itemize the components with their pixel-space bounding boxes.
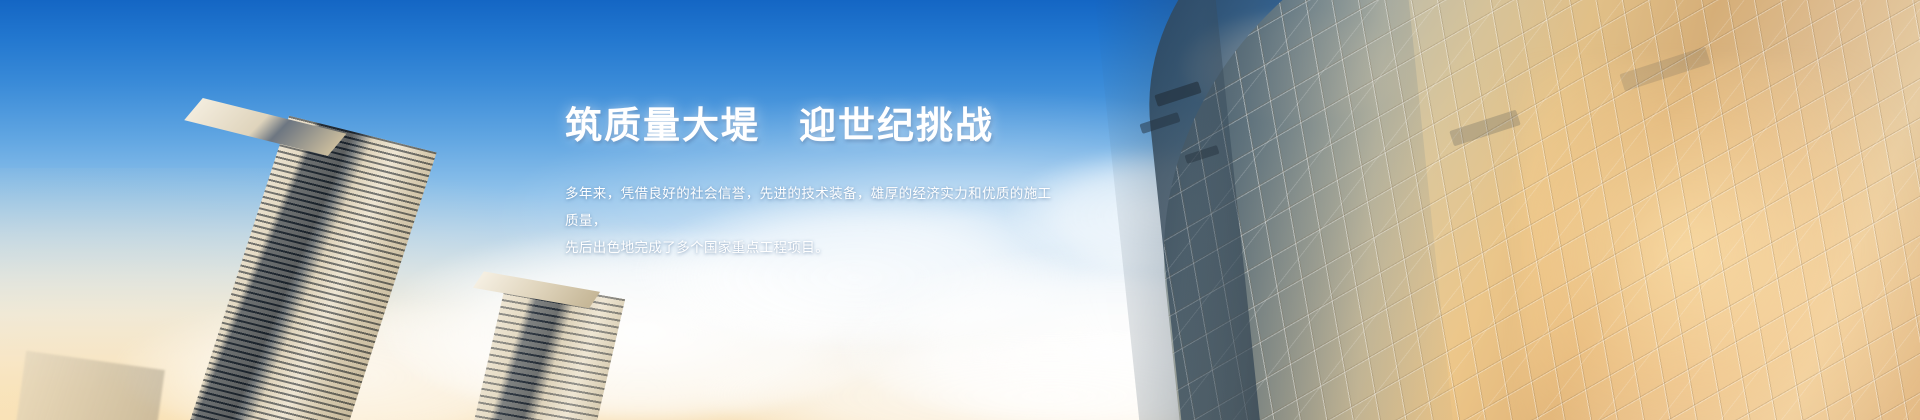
main-tower-facade (182, 116, 436, 420)
second-tower-roof (473, 271, 600, 308)
glass-vertical-mullions (1128, 0, 1920, 420)
distant-building (15, 351, 165, 420)
cloud-shape (120, 300, 580, 420)
banner-copy-block: 筑质量大堤 迎世纪挑战 多年来，凭借良好的社会信誉，先进的技术装备，雄厚的经济实… (565, 104, 1205, 261)
hero-banner: 筑质量大堤 迎世纪挑战 多年来，凭借良好的社会信誉，先进的技术装备，雄厚的经济实… (0, 0, 1920, 420)
banner-subtitle: 多年来，凭借良好的社会信誉，先进的技术装备，雄厚的经济实力和优质的施工质量， 先… (565, 180, 1065, 261)
banner-subtitle-line: 多年来，凭借良好的社会信誉，先进的技术装备，雄厚的经济实力和优质的施工质量， (565, 180, 1065, 234)
cloud-shape (700, 330, 1400, 420)
cloud-shape (840, 250, 1400, 420)
second-tower-facade (471, 278, 625, 420)
glass-sun-reflection (1520, 60, 1920, 420)
glass-tower-group (1100, 0, 1920, 420)
cloud-shape (1180, 10, 1410, 120)
glass-window-panel (1154, 81, 1201, 107)
glass-window-panel (1449, 110, 1521, 147)
main-tower-roof (184, 98, 346, 156)
glass-curtain-wall (1128, 0, 1920, 420)
banner-subtitle-line: 先后出色地完成了多个国家重点工程项目。 (565, 234, 1065, 261)
glass-diagonal-lines (1128, 0, 1920, 420)
cloud-shape (1290, 300, 1710, 420)
banner-headline: 筑质量大堤 迎世纪挑战 (565, 104, 1205, 148)
glass-window-panel (1619, 47, 1710, 92)
glass-floor-lines (1128, 0, 1920, 420)
